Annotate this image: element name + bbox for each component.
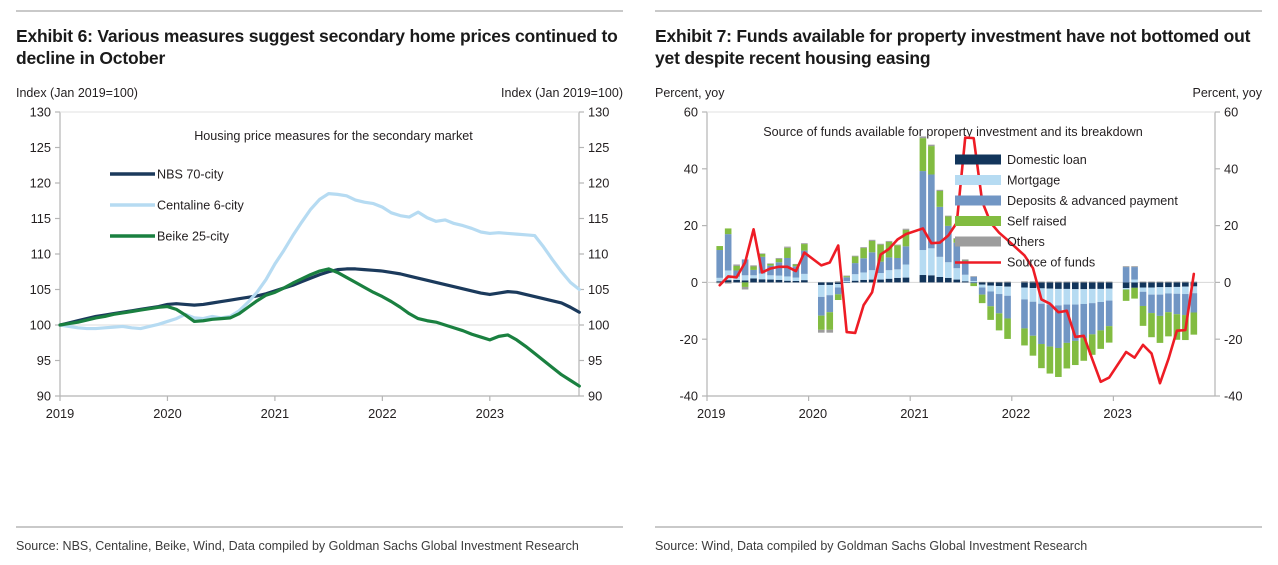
bar-segment <box>725 228 732 234</box>
bar-segment <box>979 284 986 287</box>
bar-segment <box>759 279 766 282</box>
bar-segment <box>962 260 969 261</box>
bar-segment <box>1097 289 1104 302</box>
bar-segment <box>1148 313 1155 337</box>
bar-segment <box>886 278 893 282</box>
bar-segment <box>835 294 842 300</box>
bar-segment <box>793 277 800 280</box>
bar-segment <box>1097 302 1104 330</box>
svg-text:Source of funds available for: Source of funds available for property i… <box>763 125 1142 139</box>
bar-segment <box>1165 287 1172 293</box>
bar-segment <box>1004 318 1011 338</box>
svg-text:-20: -20 <box>680 332 699 347</box>
bar-segment <box>742 282 749 287</box>
bar-segment <box>979 282 986 283</box>
top-divider-left <box>16 10 623 12</box>
bar-segment <box>1004 282 1011 286</box>
bar-segment <box>979 282 986 284</box>
bar-segment <box>1072 282 1079 289</box>
bar-segment <box>750 275 757 278</box>
bar-segment <box>886 257 893 270</box>
bar-segment <box>970 277 977 281</box>
svg-text:60: 60 <box>684 104 698 119</box>
svg-text:120: 120 <box>30 175 51 190</box>
bar-segment <box>1097 330 1104 348</box>
svg-text:110: 110 <box>588 246 608 261</box>
svg-text:0: 0 <box>691 275 698 290</box>
bar-segment <box>1030 288 1037 302</box>
bar-segment <box>725 234 732 270</box>
bar-segment <box>937 207 944 257</box>
svg-text:90: 90 <box>37 388 51 403</box>
bar-segment <box>937 191 944 207</box>
bar-segment <box>826 330 833 333</box>
bar-segment <box>793 281 800 282</box>
svg-text:95: 95 <box>37 353 51 368</box>
bar-segment <box>1191 312 1198 334</box>
svg-text:20: 20 <box>1224 218 1238 233</box>
bar-segment <box>928 146 935 174</box>
bar-segment <box>1123 282 1130 288</box>
bar-segment <box>776 259 783 262</box>
bar-segment <box>742 275 749 280</box>
legend-swatch-0 <box>955 154 1001 164</box>
bar-segment <box>953 268 960 279</box>
bar-segment <box>1148 282 1155 287</box>
bar-segment <box>733 280 740 283</box>
bar-segment <box>852 274 859 281</box>
bar-segment <box>1157 282 1164 287</box>
bar-segment <box>970 283 977 286</box>
legend-swatch-2 <box>955 195 1001 205</box>
bar-segment <box>886 270 893 279</box>
bar-segment <box>945 216 952 225</box>
bar-segment <box>818 282 825 285</box>
svg-text:Housing price measures for the: Housing price measures for the secondary… <box>194 129 473 143</box>
bar-segment <box>1157 287 1164 294</box>
bar-segment <box>1089 289 1096 303</box>
bar-segment <box>1157 316 1164 343</box>
bar-segment <box>843 277 850 281</box>
bottom-divider-right <box>655 526 1262 528</box>
bar-segment <box>733 266 740 271</box>
bar-segment <box>1182 286 1189 293</box>
svg-text:60: 60 <box>1224 104 1238 119</box>
bar-segment <box>877 244 884 245</box>
svg-text:115: 115 <box>588 211 608 226</box>
bar-segment <box>776 262 783 275</box>
bar-segment <box>767 279 774 282</box>
svg-text:2022: 2022 <box>1002 406 1030 421</box>
bar-segment <box>843 281 850 282</box>
bar-segment <box>937 277 944 282</box>
bar-segment <box>716 278 723 281</box>
bar-segment <box>784 248 791 258</box>
bar-segment <box>1080 304 1087 338</box>
bar-segment <box>920 250 927 275</box>
svg-text:0: 0 <box>1224 275 1231 290</box>
bar-segment <box>970 282 977 283</box>
bar-segment <box>1157 281 1164 282</box>
bar-segment <box>801 243 808 244</box>
bar-segment <box>742 287 749 290</box>
bar-segment <box>1080 289 1087 304</box>
bar-segment <box>1064 289 1071 305</box>
bar-segment <box>716 250 723 278</box>
bar-segment <box>860 247 867 248</box>
svg-text:110: 110 <box>31 246 51 261</box>
bar-segment <box>852 255 859 256</box>
exhibit-7-axis-captions: Percent, yoy Percent, yoy <box>655 86 1262 100</box>
bar-segment <box>996 286 1003 294</box>
funds-stacked-bar-chart: -40-40-20-200020204040606020192020202120… <box>655 100 1262 440</box>
svg-text:100: 100 <box>588 317 609 332</box>
bar-segment <box>903 277 910 282</box>
bar-segment <box>835 284 842 287</box>
svg-text:120: 120 <box>588 175 609 190</box>
bar-segment <box>945 215 952 216</box>
svg-text:2023: 2023 <box>1103 406 1131 421</box>
bar-segment <box>1131 266 1138 267</box>
bar-segment <box>886 241 893 242</box>
legend-label-source-of-funds: Source of funds <box>1007 255 1095 269</box>
exhibits-page: Exhibit 6: Various measures suggest seco… <box>0 0 1278 565</box>
bar-segment <box>860 258 867 272</box>
bar-segment <box>1165 282 1172 287</box>
right-axis-caption: Percent, yoy <box>1193 86 1262 100</box>
bar-segment <box>1080 281 1087 282</box>
bar-segment <box>1140 287 1147 291</box>
bar-segment <box>843 282 850 283</box>
bar-segment <box>1064 282 1071 289</box>
bar-segment <box>962 281 969 282</box>
bar-segment <box>894 245 901 258</box>
bar-segment <box>1047 281 1054 282</box>
bar-segment <box>1072 281 1079 282</box>
bar-segment <box>1123 288 1130 289</box>
svg-text:20: 20 <box>684 218 698 233</box>
bar-segment <box>996 313 1003 330</box>
bar-segment <box>1055 348 1062 377</box>
top-divider-right <box>655 10 1262 12</box>
bar-segment <box>1038 303 1045 343</box>
bar-segment <box>1089 281 1096 282</box>
bar-segment <box>1174 294 1181 314</box>
bar-segment <box>945 278 952 283</box>
svg-text:2020: 2020 <box>153 406 181 421</box>
left-axis-caption: Percent, yoy <box>655 86 724 100</box>
svg-text:2022: 2022 <box>368 406 396 421</box>
bar-segment <box>860 280 867 283</box>
svg-text:2021: 2021 <box>900 406 928 421</box>
bar-segment <box>843 275 850 276</box>
bar-segment <box>1004 281 1011 282</box>
legend-swatch-1 <box>955 175 1001 185</box>
bar-segment <box>784 276 791 280</box>
bar-segment <box>776 280 783 283</box>
bar-segment <box>928 144 935 145</box>
svg-text:105: 105 <box>588 282 609 297</box>
legend-swatch-3 <box>955 216 1001 226</box>
bar-segment <box>1140 282 1147 287</box>
bar-segment <box>1030 282 1037 288</box>
svg-text:100: 100 <box>30 317 51 332</box>
right-axis-caption: Index (Jan 2019=100) <box>501 86 623 100</box>
bar-segment <box>1030 301 1037 335</box>
svg-text:130: 130 <box>588 104 609 119</box>
bar-segment <box>894 269 901 278</box>
bar-segment <box>945 262 952 278</box>
bar-segment <box>1165 312 1172 336</box>
bar-segment <box>826 295 833 312</box>
bar-segment <box>784 280 791 282</box>
legend-label-2: Beike 25-city <box>157 229 230 243</box>
bar-segment <box>869 240 876 241</box>
bar-segment <box>894 244 901 245</box>
exhibit-6-source: Source: NBS, Centaline, Beike, Wind, Dat… <box>16 537 623 555</box>
bar-segment <box>801 280 808 282</box>
exhibit-7-panel: Exhibit 7: Funds available for property … <box>639 0 1278 565</box>
bar-segment <box>826 285 833 295</box>
bar-segment <box>776 258 783 259</box>
svg-text:2020: 2020 <box>799 406 827 421</box>
bar-segment <box>1140 292 1147 306</box>
bar-segment <box>1106 288 1113 300</box>
bar-segment <box>1030 336 1037 356</box>
bar-segment <box>826 312 833 330</box>
bar-segment <box>1165 293 1172 312</box>
svg-text:40: 40 <box>684 161 698 176</box>
svg-text:-20: -20 <box>1224 332 1243 347</box>
bar-segment <box>1123 266 1130 267</box>
bar-segment <box>894 278 901 283</box>
bar-segment <box>750 266 757 269</box>
bar-segment <box>1004 286 1011 295</box>
legend-label-0: NBS 70-city <box>157 167 224 181</box>
exhibit-6-axis-captions: Index (Jan 2019=100) Index (Jan 2019=100… <box>16 86 623 100</box>
bar-segment <box>987 282 994 285</box>
bar-segment <box>1089 303 1096 334</box>
bar-segment <box>979 294 986 303</box>
svg-text:105: 105 <box>30 282 51 297</box>
legend-label-0: Domestic loan <box>1007 153 1087 167</box>
exhibit-6-title: Exhibit 6: Various measures suggest seco… <box>16 25 623 70</box>
secondary-price-line-chart: 9090959510010010510511011011511512012012… <box>16 100 623 440</box>
bar-segment <box>920 136 927 138</box>
exhibit-6-chart: 9090959510010010510511011011511512012012… <box>16 100 623 440</box>
bar-segment <box>920 138 927 171</box>
bar-segment <box>1131 282 1138 287</box>
bar-segment <box>1165 281 1172 282</box>
bar-segment <box>1157 294 1164 315</box>
bar-segment <box>877 279 884 282</box>
bar-segment <box>801 244 808 251</box>
bar-segment <box>1182 282 1189 286</box>
bar-segment <box>759 273 766 279</box>
bar-segment <box>1021 281 1028 282</box>
bar-segment <box>1047 304 1054 346</box>
bar-segment <box>987 291 994 306</box>
bar-segment <box>1072 341 1079 365</box>
bar-segment <box>996 282 1003 283</box>
bar-segment <box>750 278 757 282</box>
bar-segment <box>818 285 825 297</box>
svg-text:-40: -40 <box>680 388 699 403</box>
bar-segment <box>987 285 994 291</box>
exhibit-6-source-area: Source: NBS, Centaline, Beike, Wind, Dat… <box>16 526 623 555</box>
bar-segment <box>776 275 783 279</box>
bar-segment <box>835 282 842 284</box>
bar-segment <box>1106 326 1113 342</box>
bar-segment <box>1106 282 1113 288</box>
svg-text:2019: 2019 <box>697 406 725 421</box>
bar-segment <box>869 241 876 252</box>
bar-segment <box>784 246 791 247</box>
bar-segment <box>1064 343 1071 369</box>
svg-text:125: 125 <box>30 140 51 155</box>
bar-segment <box>996 282 1003 286</box>
bar-segment <box>996 294 1003 313</box>
bar-segment <box>1174 281 1181 282</box>
svg-text:-40: -40 <box>1224 388 1243 403</box>
bar-segment <box>1106 281 1113 282</box>
bar-segment <box>920 171 927 250</box>
legend-label-2: Deposits & advanced payment <box>1007 194 1178 208</box>
bar-segment <box>860 272 867 279</box>
bar-segment <box>1148 294 1155 312</box>
bar-segment <box>1131 288 1138 299</box>
bar-segment <box>1038 344 1045 368</box>
svg-text:2021: 2021 <box>261 406 289 421</box>
line-series-0 <box>60 269 579 325</box>
bar-segment <box>903 246 910 264</box>
exhibit-7-source-area: Source: Wind, Data compiled by Goldman S… <box>655 526 1262 555</box>
exhibit-7-source: Source: Wind, Data compiled by Goldman S… <box>655 537 1262 555</box>
bar-segment <box>1021 299 1028 328</box>
legend-label-1: Centaline 6-city <box>157 198 245 212</box>
bar-segment <box>852 280 859 282</box>
bar-segment <box>979 287 986 294</box>
svg-text:2019: 2019 <box>46 406 74 421</box>
bar-segment <box>1140 281 1147 282</box>
bar-segment <box>725 282 732 283</box>
legend-label-3: Self raised <box>1007 214 1067 228</box>
bar-segment <box>937 190 944 191</box>
bar-segment <box>1140 306 1147 326</box>
bar-segment <box>818 297 825 316</box>
exhibit-6-panel: Exhibit 6: Various measures suggest seco… <box>0 0 639 565</box>
bar-segment <box>1174 282 1181 287</box>
bar-segment <box>1148 281 1155 282</box>
bar-segment <box>903 229 910 230</box>
bar-segment <box>801 274 808 280</box>
bottom-divider-left <box>16 526 623 528</box>
bar-segment <box>1123 267 1130 282</box>
svg-text:40: 40 <box>1224 161 1238 176</box>
legend-label-1: Mortgage <box>1007 173 1060 187</box>
bar-segment <box>742 280 749 282</box>
bar-segment <box>1021 282 1028 287</box>
bar-segment <box>970 276 977 277</box>
bar-segment <box>953 279 960 282</box>
bar-segment <box>1097 281 1104 282</box>
bar-segment <box>1131 279 1138 282</box>
bar-segment <box>818 330 825 333</box>
bar-segment <box>835 287 842 294</box>
bar-segment <box>962 259 969 260</box>
bar-segment <box>1182 281 1189 282</box>
bar-segment <box>767 275 774 279</box>
bar-segment <box>970 281 977 282</box>
bar-segment <box>750 270 757 275</box>
bar-segment <box>767 263 774 264</box>
bar-segment <box>767 264 774 266</box>
svg-text:95: 95 <box>588 353 602 368</box>
bar-segment <box>1038 281 1045 282</box>
bar-segment <box>1055 282 1062 289</box>
bar-segment <box>750 265 757 266</box>
bar-segment <box>928 248 935 275</box>
bar-segment <box>1055 281 1062 282</box>
bar-segment <box>1072 289 1079 304</box>
bar-segment <box>1047 346 1054 373</box>
bar-segment <box>716 246 723 250</box>
legend-label-4: Others <box>1007 235 1045 249</box>
left-axis-caption: Index (Jan 2019=100) <box>16 86 138 100</box>
bar-segment <box>818 315 825 329</box>
bar-segment <box>903 264 910 277</box>
svg-text:90: 90 <box>588 388 602 403</box>
bar-segment <box>1123 289 1130 300</box>
svg-text:2023: 2023 <box>476 406 504 421</box>
bar-segment <box>1148 287 1155 294</box>
bar-segment <box>1174 287 1181 294</box>
svg-text:115: 115 <box>31 211 51 226</box>
bar-segment <box>1097 282 1104 289</box>
bar-segment <box>920 275 927 282</box>
bar-segment <box>987 306 994 320</box>
bar-segment <box>962 275 969 282</box>
bar-segment <box>987 282 994 283</box>
bar-segment <box>852 263 859 274</box>
bar-segment <box>1080 282 1087 289</box>
bar-segment <box>733 264 740 265</box>
bar-segment <box>1055 289 1062 305</box>
bar-segment <box>869 252 876 270</box>
exhibit-7-chart: -40-40-20-200020204040606020192020202120… <box>655 100 1262 440</box>
bar-segment <box>1047 282 1054 288</box>
bar-segment <box>928 275 935 282</box>
bar-segment <box>860 248 867 258</box>
bar-segment <box>1004 296 1011 319</box>
bar-segment <box>1131 267 1138 280</box>
svg-text:125: 125 <box>588 140 609 155</box>
bar-segment <box>843 276 850 277</box>
bar-segment <box>1021 287 1028 299</box>
legend-swatch-4 <box>955 236 1001 246</box>
bar-segment <box>852 256 859 263</box>
bar-segment <box>826 282 833 285</box>
bar-segment <box>1021 328 1028 345</box>
bar-segment <box>877 273 884 280</box>
bar-segment <box>937 257 944 277</box>
bar-segment <box>1089 282 1096 289</box>
bar-segment <box>1106 300 1113 326</box>
bar-segment <box>1064 281 1071 282</box>
exhibit-7-title: Exhibit 7: Funds available for property … <box>655 25 1262 70</box>
svg-text:130: 130 <box>30 104 51 119</box>
bar-segment <box>894 258 901 269</box>
